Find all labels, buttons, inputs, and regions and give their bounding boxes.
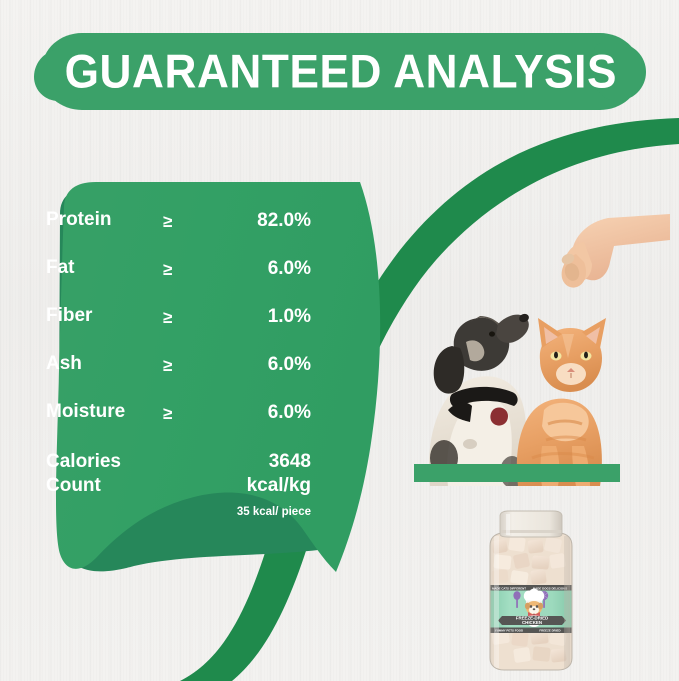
calories-label-line2: Count — [46, 475, 101, 496]
cat-icon — [517, 318, 606, 486]
row-operator-moisture: ≥ — [163, 404, 172, 424]
row-value-fat: 6.0% — [196, 258, 311, 280]
row-label-moisture: Moisture — [46, 402, 125, 422]
page-title: GUARANTEED ANALYSIS — [42, 47, 640, 94]
row-label-fat: Fat — [46, 258, 75, 278]
calories-label-line1: Calories — [46, 451, 121, 472]
pets-scene — [408, 196, 670, 486]
row-operator-protein: ≥ — [163, 212, 172, 232]
table-row: Moisture ≥ 6.0% — [46, 402, 346, 450]
row-value-calories: 3648kcal/kg — [196, 450, 311, 499]
dog-icon — [429, 313, 530, 486]
analysis-table: Protein ≥ 82.0% Fat ≥ 6.0% Fiber ≥ 1.0% … — [46, 210, 346, 520]
calories-per-piece-note: 35 kcal/ piece — [196, 506, 311, 518]
table-row: Protein ≥ 82.0% — [46, 210, 346, 258]
hand-holding-treat-icon — [560, 214, 670, 288]
row-label-fiber: Fiber — [46, 306, 92, 326]
pets-platform-bar — [414, 464, 620, 482]
jar-lid — [500, 511, 562, 537]
row-value-moisture: 6.0% — [196, 402, 311, 424]
calories-value-line2: kcal/kg — [247, 475, 311, 496]
row-operator-ash: ≥ — [163, 356, 172, 376]
table-row: Fiber ≥ 1.0% — [46, 306, 346, 354]
guaranteed-analysis-infographic: Protein ≥ 82.0% Fat ≥ 6.0% Fiber ≥ 1.0% … — [0, 0, 679, 681]
row-label-protein: Protein — [46, 210, 111, 230]
row-label-ash: Ash — [46, 354, 82, 374]
row-value-fiber: 1.0% — [196, 306, 311, 328]
product-jar: MADE CATS DIFFERENT MADE DOGS DELICIOUS … — [476, 510, 586, 676]
row-value-protein: 82.0% — [196, 210, 311, 232]
row-value-ash: 6.0% — [196, 354, 311, 376]
table-row-calories: CaloriesCount 3648kcal/kg 35 kcal/ piece — [46, 450, 346, 520]
row-operator-fiber: ≥ — [163, 308, 172, 328]
row-label-calories: CaloriesCount — [46, 450, 121, 499]
page-title-text: GUARANTEED ANALYSIS — [65, 47, 617, 94]
table-row: Ash ≥ 6.0% — [46, 354, 346, 402]
title-banner: GUARANTEED ANALYSIS — [42, 33, 640, 110]
calories-value-line1: 3648 — [269, 451, 311, 472]
table-row: Fat ≥ 6.0% — [46, 258, 346, 306]
row-operator-fat: ≥ — [163, 260, 172, 280]
